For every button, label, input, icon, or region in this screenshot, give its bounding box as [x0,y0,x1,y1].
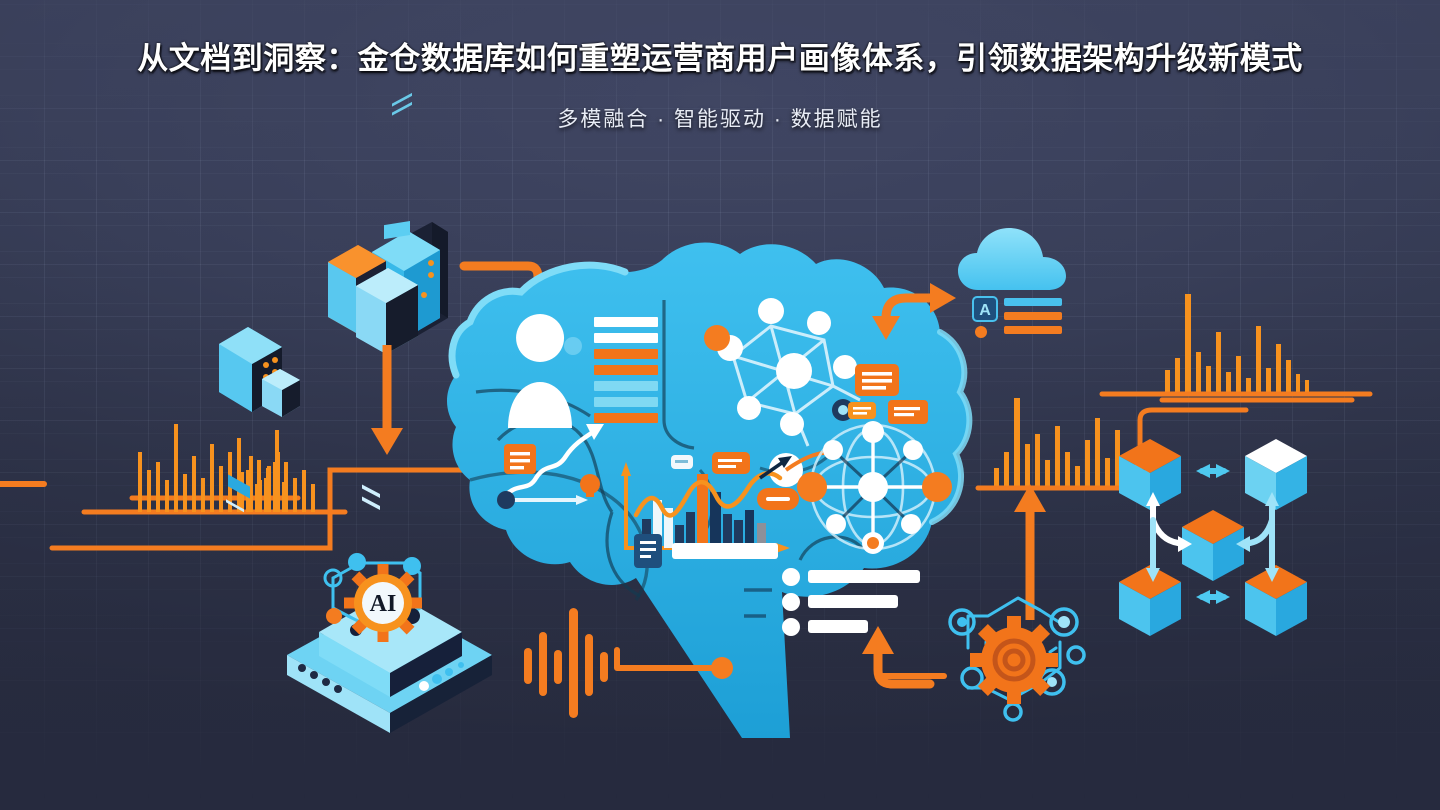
data-waveform-right-top [1102,294,1370,400]
arrow-server-down-head [371,428,403,455]
cloud-document: A [958,228,1066,338]
arrow-brain-to-cloud-head [930,283,956,313]
ai-gear-badge: AI [344,564,422,642]
ai-edge-device: AI [287,553,492,810]
svg-text:A: A [979,302,991,319]
page-title: 从文档到洞察：金仓数据库如何重塑运营商用户画像体系，引领数据架构升级新模式 [0,40,1440,77]
svg-text:AI: AI [370,591,397,617]
gear-circuit [950,598,1084,720]
gear-icon [970,616,1058,704]
cube-center [1182,510,1244,581]
arrow-device-up [878,652,930,684]
cube-top-right [1245,439,1307,510]
cube-topology [1119,439,1307,636]
headline-block: 从文档到洞察：金仓数据库如何重塑运营商用户画像体系，引领数据架构升级新模式 多模… [0,0,1440,133]
cube-bottom-right [1245,565,1307,636]
slide-canvas: A [0,0,1440,810]
page-subtitle: 多模融合 · 智能驱动 · 数据赋能 [0,103,1440,133]
